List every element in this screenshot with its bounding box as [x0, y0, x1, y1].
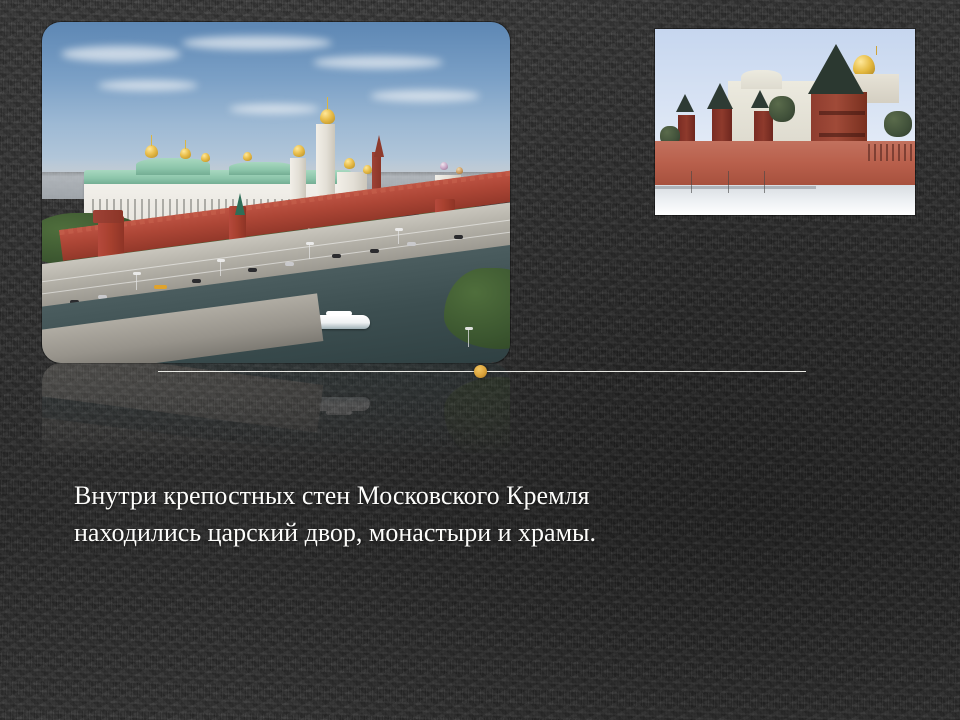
bell-tower-cross: [327, 97, 328, 110]
tower-crown: [93, 210, 123, 224]
river-boat: [318, 315, 370, 329]
tower-spire: [235, 193, 245, 215]
fence-post: [728, 171, 729, 193]
car: [407, 242, 416, 246]
dome-cross: [151, 135, 152, 146]
lamppost: [468, 329, 469, 347]
golden-dome: [293, 145, 305, 157]
lamppost: [220, 261, 221, 276]
snow-ground: [655, 185, 915, 215]
dome-cross: [185, 140, 186, 149]
bell-tower-golden-dome: [320, 109, 335, 124]
snow-shadow: [655, 186, 816, 189]
slide-caption-text: Внутри крепостных стен Московского Кремл…: [74, 477, 874, 551]
golden-dome: [145, 145, 158, 158]
st-basil-dome: [440, 162, 448, 170]
big-tower-tent-roof: [808, 44, 864, 94]
cloud: [182, 36, 332, 50]
palace-green-roof: [84, 170, 351, 184]
background-palace-roof: [741, 70, 783, 89]
main-photo-scene: [42, 22, 510, 363]
palace-green-dome-roof: [229, 162, 295, 176]
tree: [769, 96, 795, 122]
golden-dome: [243, 152, 252, 161]
golden-dome: [363, 165, 372, 174]
lamppost: [136, 274, 137, 290]
cloud: [98, 80, 198, 91]
golden-dome: [180, 148, 191, 159]
car: [154, 285, 167, 289]
cloud: [61, 46, 181, 62]
secondary-photo-kremlin-wall-winter[interactable]: [655, 29, 915, 215]
car: [248, 268, 257, 272]
tree: [884, 111, 912, 137]
dome-cross: [876, 46, 877, 55]
wall-merlons: [868, 144, 915, 161]
presentation-slide: Внутри крепостных стен Московского Кремл…: [0, 0, 960, 720]
fence-post: [764, 171, 765, 193]
car: [332, 254, 341, 258]
tower-tent-roof: [676, 94, 694, 112]
car: [454, 235, 463, 239]
lamppost: [398, 230, 399, 244]
car: [370, 249, 379, 253]
main-photo-kremlin-panorama[interactable]: [42, 22, 510, 363]
tower-tent-roof: [707, 83, 733, 109]
lamppost: [309, 244, 310, 259]
cloud: [229, 104, 319, 114]
golden-dome: [344, 158, 355, 169]
fence-post: [691, 171, 692, 193]
car: [192, 279, 201, 283]
tower-tent-roof: [751, 90, 769, 108]
tower-band: [819, 111, 865, 115]
palace-green-dome-roof: [136, 158, 211, 175]
tower-band: [819, 133, 865, 137]
distant-spire: [374, 135, 384, 157]
golden-dome: [201, 153, 210, 162]
st-basil-dome: [456, 167, 463, 174]
divider-bullet-icon: [474, 365, 487, 378]
